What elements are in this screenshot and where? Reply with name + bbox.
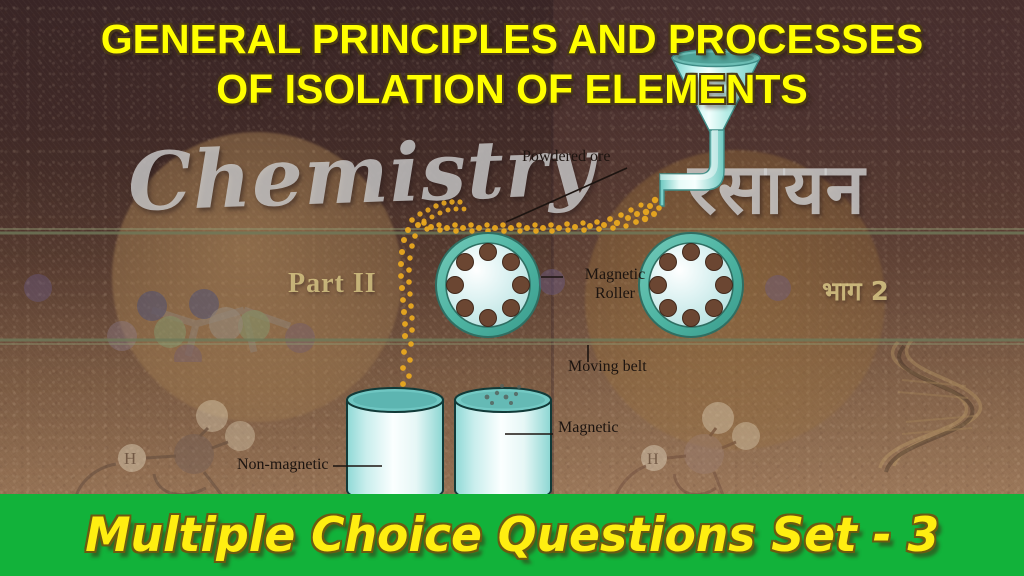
label-magnetic: Magnetic: [558, 419, 618, 436]
lower-belt: [0, 340, 1024, 344]
non-magnetic-collector: [347, 388, 443, 500]
magnetic-separation-diagram: Powdered ore Magnetic Roller Moving belt…: [0, 0, 1024, 576]
label-magnetic-roller: Magnetic Roller: [568, 265, 662, 303]
banner-title: Multiple Choice Questions Set - 3: [85, 508, 939, 563]
bottom-banner: Multiple Choice Questions Set - 3: [0, 494, 1024, 576]
label-moving-belt: Moving belt: [568, 358, 647, 375]
slide-canvas: Chemistry Part II रसायन भाग 2: [0, 0, 1024, 576]
label-non-magnetic: Non-magnetic: [237, 456, 329, 473]
magnetic-collector: [455, 384, 551, 500]
funnel: [660, 50, 760, 207]
left-magnetic-roller: [436, 233, 540, 337]
leader-powdered-ore: [506, 168, 627, 222]
label-powdered-ore: Powdered ore: [522, 148, 610, 165]
